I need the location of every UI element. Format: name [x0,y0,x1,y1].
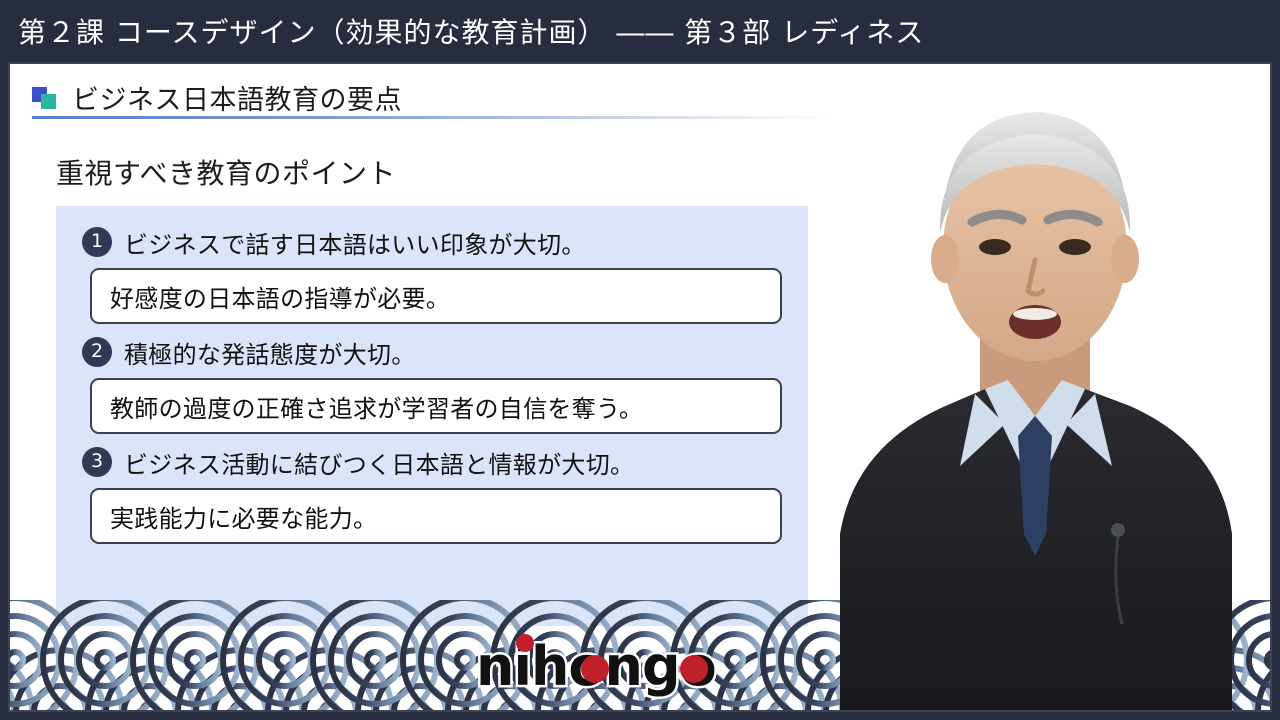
lesson-title: 第２課 コースデザイン（効果的な教育計画） ―― 第３部 レディネス [0,11,924,51]
slide-header: ビジネス日本語教育の要点 [32,78,402,117]
point-number-badge-2: 2 [82,337,112,367]
slide-header-title: ビジネス日本語教育の要点 [72,78,402,117]
point-heading-text-1: ビジネスで話す日本語はいい印象が大切。 [124,225,586,260]
point-number-badge-3: 3 [82,447,112,477]
two-squares-icon [32,87,58,109]
point-heading-row-2: 2 積極的な発話態度が大切。 [56,330,808,374]
presenter-video-overlay [800,64,1270,712]
point-detail-box-1: 好感度の日本語の指導が必要。 [90,268,782,324]
point-heading-row-1: 1 ビジネスで話す日本語はいい印象が大切。 [56,220,808,264]
point-group-1: 1 ビジネスで話す日本語はいい印象が大切。 好感度の日本語の指導が必要。 [56,220,808,324]
point-detail-text-1: 好感度の日本語の指導が必要。 [110,279,450,314]
lesson-title-bar: 第２課 コースデザイン（効果的な教育計画） ―― 第３部 レディネス [0,0,1280,62]
key-points-panel: 1 ビジネスで話す日本語はいい印象が大切。 好感度の日本語の指導が必要。 2 積… [56,206,808,626]
logo-dot-o2 [680,655,708,683]
point-heading-row-3: 3 ビジネス活動に結びつく日本語と情報が大切。 [56,440,808,484]
logo-dot-o1 [581,655,609,683]
point-heading-text-2: 積極的な発話態度が大切。 [124,335,416,370]
point-detail-text-3: 実践能力に必要な能力。 [110,499,377,534]
point-detail-box-3: 実践能力に必要な能力。 [90,488,782,544]
point-group-2: 2 積極的な発話態度が大切。 教師の過度の正確さ追求が学習者の自信を奪う。 [56,330,808,434]
video-lesson-frame: 第２課 コースデザイン（効果的な教育計画） ―― 第３部 レディネス ビジネス日… [0,0,1280,720]
nihongo-logo: nihongo [472,632,772,702]
logo-dot-i [516,634,534,652]
slide-canvas: ビジネス日本語教育の要点 重視すべき教育のポイント 1 ビジネスで話す日本語はい… [8,62,1272,712]
section-title: 重視すべき教育のポイント [56,152,396,192]
point-detail-box-2: 教師の過度の正確さ追求が学習者の自信を奪う。 [90,378,782,434]
two-squares-icon-square-b [41,94,56,109]
point-detail-text-2: 教師の過度の正確さ追求が学習者の自信を奪う。 [110,389,643,424]
point-group-3: 3 ビジネス活動に結びつく日本語と情報が大切。 実践能力に必要な能力。 [56,440,808,544]
slide-header-underline [32,116,832,119]
point-number-badge-1: 1 [82,227,112,257]
point-heading-text-3: ビジネス活動に結びつく日本語と情報が大切。 [124,445,634,480]
svg-text:nihongo: nihongo [476,635,716,698]
